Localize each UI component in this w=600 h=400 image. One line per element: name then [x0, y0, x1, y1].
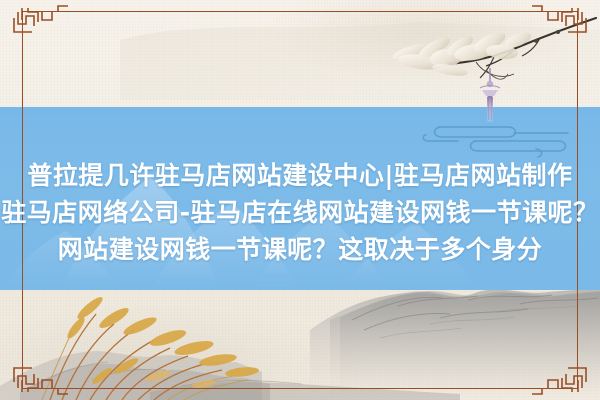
meander-corner-bottom-left-icon — [12, 358, 78, 398]
headline-line-2: 驻马店网络公司-驻马店在线网站建设网钱一节课呢？ — [0, 194, 600, 231]
meander-corner-top-left-icon — [12, 2, 78, 42]
meander-corner-top-right-icon — [522, 2, 588, 42]
headline-line-3: 网站建设网钱一节课呢？这取决于多个身分 — [0, 231, 600, 268]
headline-line-1: 普拉提几许驻马店网站建设中心|驻马店网站制作 — [0, 157, 600, 194]
meander-corner-bottom-right-icon — [522, 358, 588, 398]
decorative-banner: 普拉提几许驻马店网站建设中心|驻马店网站制作 驻马店网络公司-驻马店在线网站建设… — [0, 0, 600, 400]
headline-block: 普拉提几许驻马店网站建设中心|驻马店网站制作 驻马店网络公司-驻马店在线网站建设… — [0, 157, 600, 268]
